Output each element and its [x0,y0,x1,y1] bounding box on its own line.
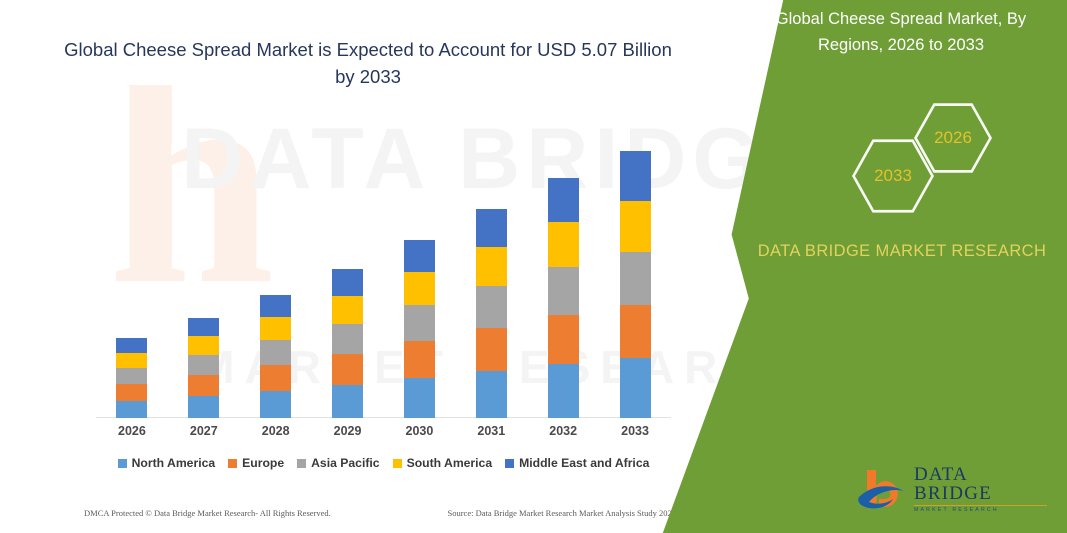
legend-item-south-america[interactable]: South America [393,456,493,470]
chart-title: Global Cheese Spread Market is Expected … [60,36,676,90]
logo-wordmark: DATA BRIDGE MARKET RESEARCH [914,465,1047,513]
bar-segment-middle-east-and-africa [476,209,507,247]
x-axis-label-2026: 2026 [97,424,167,438]
legend-item-middle-east-and-africa[interactable]: Middle East and Africa [505,456,649,470]
legend-label: Asia Pacific [311,456,379,470]
bar-segment-south-america [404,272,435,305]
bar-segment-south-america [620,201,651,252]
x-axis-label-2032: 2032 [528,424,598,438]
bar-column-2026 [116,338,147,418]
right-panel-title: Global Cheese Spread Market, By Regions,… [751,6,1051,58]
bar-segment-middle-east-and-africa [332,269,363,296]
bar-column-2031 [476,209,507,418]
bar-column-2030 [404,240,435,418]
bar-segment-middle-east-and-africa [404,240,435,272]
legend-label: Middle East and Africa [519,456,649,470]
bar-segment-north-america [332,385,363,418]
bar-column-2027 [188,318,219,418]
bar-segment-asia-pacific [116,368,147,384]
bar-segment-middle-east-and-africa [548,178,579,222]
bar-segment-asia-pacific [620,252,651,305]
legend-swatch-icon [118,459,127,468]
x-axis-label-2029: 2029 [313,424,383,438]
x-axis-label-2027: 2027 [169,424,239,438]
chart-x-axis-labels: 20262027202820292030203120322033 [96,424,671,444]
bar-segment-europe [476,328,507,371]
bar-segment-asia-pacific [188,355,219,375]
bar-segment-europe [332,354,363,385]
bar-column-2033 [620,151,651,418]
logo-divider [914,505,1047,506]
brand-name-text: DATA BRIDGE MARKET RESEARCH [757,238,1047,264]
legend-swatch-icon [505,459,514,468]
bar-segment-middle-east-and-africa [188,318,219,336]
x-axis-label-2030: 2030 [384,424,454,438]
infographic-root: h DATA BRIDGE MARKET RESEARCH Global Che… [0,0,1067,533]
bar-segment-europe [620,305,651,358]
footer: DMCA Protected © Data Bridge Market Rese… [0,508,690,518]
bar-segment-south-america [116,353,147,368]
bar-segment-middle-east-and-africa [260,295,291,317]
legend-item-north-america[interactable]: North America [118,456,216,470]
bar-segment-asia-pacific [404,305,435,341]
hexagon-2033-label: 2033 [874,166,912,186]
bar-segment-middle-east-and-africa [116,338,147,353]
bar-segment-europe [260,365,291,391]
legend-item-europe[interactable]: Europe [228,456,284,470]
bar-segment-asia-pacific [476,286,507,328]
x-axis-label-2031: 2031 [456,424,526,438]
bar-segment-south-america [260,317,291,340]
right-green-panel [637,0,1067,533]
logo-mark-icon [857,466,907,512]
chart-legend: North AmericaEuropeAsia PacificSouth Ame… [96,456,671,470]
legend-label: North America [132,456,216,470]
bar-segment-north-america [476,371,507,418]
bar-segment-north-america [548,364,579,418]
bar-segment-europe [404,341,435,378]
legend-label: Europe [242,456,284,470]
bar-segment-middle-east-and-africa [620,151,651,201]
bar-column-2028 [260,295,291,418]
bar-segment-south-america [476,247,507,286]
legend-swatch-icon [393,459,402,468]
bar-segment-north-america [116,401,147,418]
bar-column-2032 [548,178,579,418]
bar-segment-europe [548,315,579,364]
footer-source-text: Source: Data Bridge Market Research Mark… [447,508,676,518]
bar-segment-south-america [188,336,219,355]
bar-segment-asia-pacific [332,324,363,354]
stacked-bar-chart [96,140,671,418]
bar-segment-europe [188,375,219,396]
hexagon-2026-label: 2026 [934,128,972,148]
bar-segment-asia-pacific [260,340,291,365]
logo-title: DATA BRIDGE [914,465,1047,503]
bar-segment-north-america [404,378,435,418]
x-axis-label-2033: 2033 [600,424,670,438]
bar-segment-europe [116,384,147,401]
bar-segment-north-america [260,391,291,418]
bar-segment-south-america [332,296,363,324]
bar-segment-south-america [548,222,579,267]
legend-swatch-icon [297,459,306,468]
bar-column-2029 [332,269,363,418]
logo-subtitle: MARKET RESEARCH [914,508,1047,513]
legend-label: South America [407,456,493,470]
bar-segment-north-america [188,396,219,418]
legend-swatch-icon [228,459,237,468]
legend-item-asia-pacific[interactable]: Asia Pacific [297,456,379,470]
data-bridge-logo: DATA BRIDGE MARKET RESEARCH [857,465,1047,513]
x-axis-label-2028: 2028 [241,424,311,438]
footer-dmca-text: DMCA Protected © Data Bridge Market Rese… [84,508,331,518]
bar-segment-north-america [620,358,651,418]
bar-segment-asia-pacific [548,267,579,315]
